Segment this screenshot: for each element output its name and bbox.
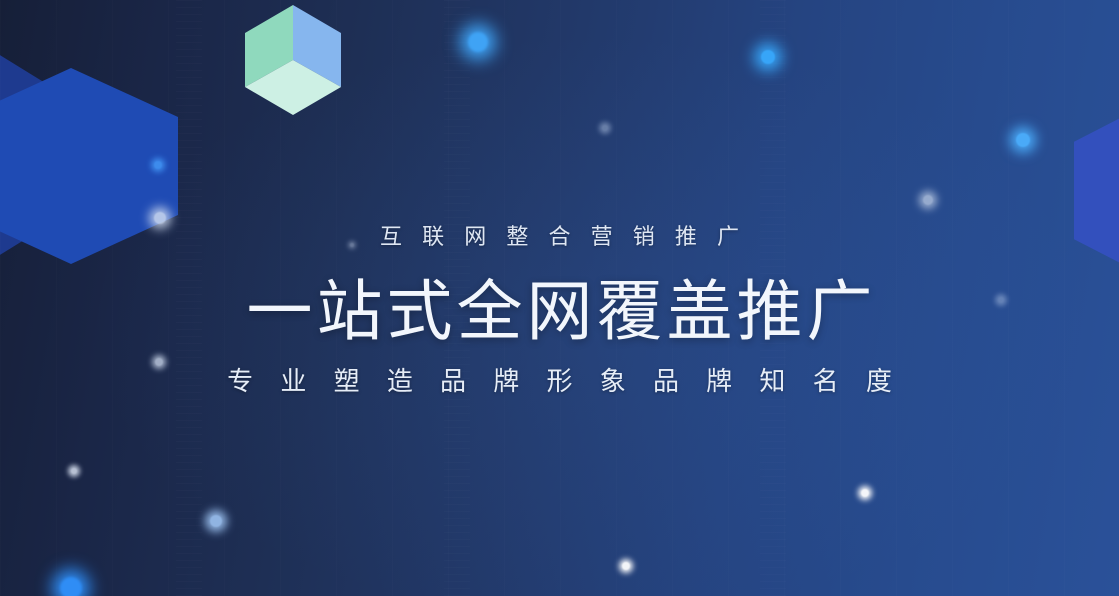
particle-dot [923,195,933,205]
particle-dot [861,489,869,497]
particle-dot [210,515,222,527]
cube-logo [245,5,341,115]
hero-copy: 互 联 网 整 合 营 销 推 广 一站式全网覆盖推广 专 业 塑 造 品 牌 … [0,222,1119,398]
particle-dot [1016,133,1030,147]
particle-dot [761,50,775,64]
particle-dot [60,577,82,596]
particle-dot [71,468,77,474]
tagline-text: 互 联 网 整 合 营 销 推 广 [0,222,1119,252]
headline-text: 一站式全网覆盖推广 [0,272,1119,350]
particle-dot [622,562,630,570]
particle-dot [468,32,488,52]
promo-banner: 互 联 网 整 合 营 销 推 广 一站式全网覆盖推广 专 业 塑 造 品 牌 … [0,0,1119,596]
subline-text: 专 业 塑 造 品 牌 形 象 品 牌 知 名 度 [0,364,1119,398]
particle-dot [602,125,608,131]
